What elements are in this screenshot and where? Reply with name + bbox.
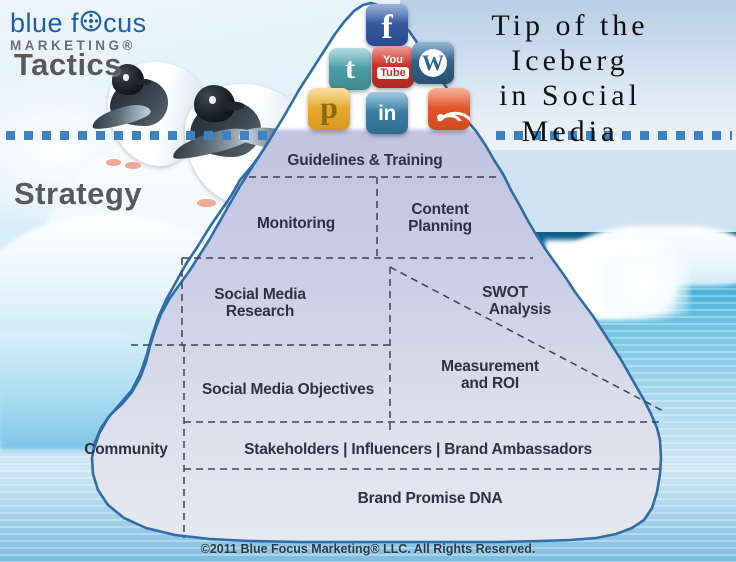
infographic-canvas: f t You Tube W p in blue f [0, 0, 736, 562]
section-label-social-media-objectives: Social Media Objectives [188, 381, 388, 398]
title-line-4: Media [426, 116, 714, 147]
measurement-line-1: Measurement [441, 358, 539, 375]
facebook-glyph: f [381, 11, 392, 45]
facebook-icon[interactable]: f [366, 4, 408, 46]
section-label-swot-analysis: SWOT Analysis [440, 284, 570, 319]
title-line-2: Iceberg [426, 45, 714, 76]
section-label-brand-promise-dna: Brand Promise DNA [240, 490, 620, 507]
content-planning-line-1: Content [411, 201, 468, 218]
logo-wordmark: blue f cus [10, 10, 170, 37]
twitter-icon[interactable]: t [329, 48, 371, 90]
section-label-community: Community [68, 441, 184, 458]
section-label-social-media-research: Social Media Research [160, 286, 360, 321]
page-title: Tip of the Iceberg in Social Media [426, 10, 714, 151]
swot-line-2: Analysis [470, 301, 570, 318]
tactics-label: Tactics [14, 47, 122, 83]
swot-line-1: SWOT [482, 284, 528, 301]
posterous-icon[interactable]: p [308, 88, 350, 130]
posterous-glyph: p [320, 91, 338, 123]
section-label-content-planning: Content Planning [380, 201, 500, 236]
twitter-glyph: t [345, 54, 355, 84]
linkedin-glyph: in [378, 103, 396, 124]
logo-word-part-1: blue f [10, 10, 79, 37]
flower-compass-icon [80, 10, 102, 37]
section-label-measurement-roi: Measurement and ROI [400, 358, 580, 393]
research-line-2: Research [226, 303, 294, 320]
title-line-3: in Social [426, 80, 714, 111]
content-planning-line-2: Planning [408, 218, 472, 235]
title-line-1: Tip of the [426, 10, 714, 41]
logo-word-part-2: cus [103, 10, 147, 37]
strategy-label: Strategy [14, 176, 142, 212]
section-label-monitoring: Monitoring [216, 215, 376, 232]
section-label-guidelines: Guidelines & Training [250, 152, 480, 169]
youtube-icon[interactable]: You Tube [372, 46, 414, 88]
research-line-1: Social Media [214, 286, 306, 303]
youtube-glyph-bottom: Tube [377, 67, 408, 79]
linkedin-icon[interactable]: in [366, 92, 408, 134]
measurement-line-2: and ROI [461, 375, 519, 392]
copyright-notice: ©2011 Blue Focus Marketing® LLC. All Rig… [0, 542, 736, 556]
youtube-glyph-top: You [383, 55, 403, 66]
section-label-stakeholders: Stakeholders | Influencers | Brand Ambas… [200, 441, 636, 458]
